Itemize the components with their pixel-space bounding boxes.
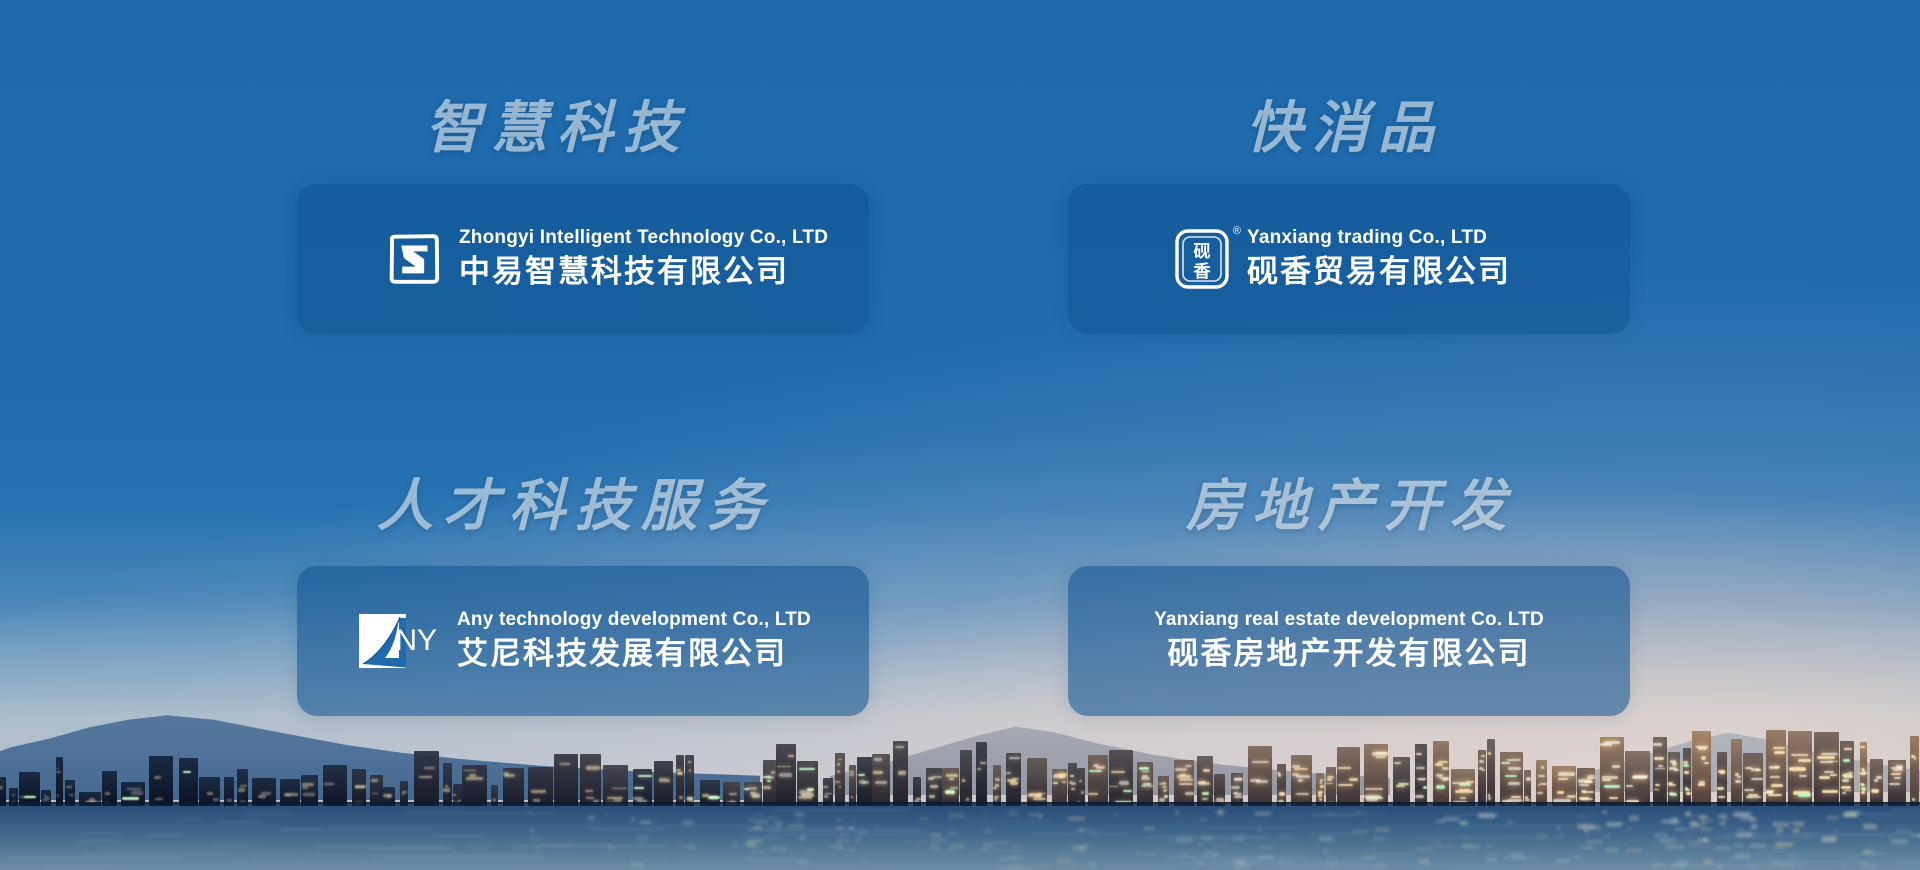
yanxiang-realestate-name-block: Yanxiang real estate development Co. LTD… [1154,608,1544,674]
zhongyi-name-block: Zhongyi Intelligent Technology Co., LTD … [459,226,828,292]
svg-text:香: 香 [1194,262,1211,281]
section-fmcg: 快消品 砚 香 ® Yanxiang trading Co., LTD 砚香贸易… [1068,100,1630,334]
yanxiang-seal-logo-icon: 砚 香 ® [1172,228,1232,290]
company-card-any[interactable]: NY Any technology development Co., LTD 艾… [297,566,869,716]
yanxiang-realestate-name-cn: 砚香房地产开发有限公司 [1168,634,1531,674]
yanxiang-trading-name-cn: 砚香贸易有限公司 [1247,252,1511,292]
yanxiang-realestate-name-en: Yanxiang real estate development Co. LTD [1154,608,1544,632]
company-card-zhongyi[interactable]: Zhongyi Intelligent Technology Co., LTD … [297,184,869,334]
section-heading-smart-technology: 智慧科技 [425,100,869,156]
any-name-en: Any technology development Co., LTD [457,608,811,632]
zhongyi-logo-icon [387,232,441,286]
zhongyi-name-en: Zhongyi Intelligent Technology Co., LTD [459,226,828,250]
company-card-yanxiang-realestate[interactable]: Yanxiang real estate development Co. LTD… [1068,566,1630,716]
any-name-cn: 艾尼科技发展有限公司 [457,634,811,674]
section-heading-fmcg: 快消品 [1246,100,1630,156]
section-talent-service: 人才科技服务 NY Any technology development Co.… [297,478,869,716]
yanxiang-trading-name-block: Yanxiang trading Co., LTD 砚香贸易有限公司 [1247,226,1511,292]
section-smart-technology: 智慧科技 Zhongyi Intelligent Technology Co.,… [297,100,869,334]
yanxiang-trading-name-en: Yanxiang trading Co., LTD [1247,226,1511,250]
section-real-estate: 房地产开发 Yanxiang real estate development C… [1068,478,1630,716]
zhongyi-name-cn: 中易智慧科技有限公司 [459,252,828,292]
registered-trademark-mark: ® [1233,226,1241,237]
section-heading-real-estate: 房地产开发 [1186,478,1630,534]
any-name-block: Any technology development Co., LTD 艾尼科技… [457,608,811,674]
svg-text:砚: 砚 [1194,242,1211,261]
any-logo-icon: NY [359,614,437,668]
any-logo-wordmark: NY [395,626,437,656]
section-heading-talent-service: 人才科技服务 [377,478,869,534]
company-card-yanxiang-trading[interactable]: 砚 香 ® Yanxiang trading Co., LTD 砚香贸易有限公司 [1068,184,1630,334]
